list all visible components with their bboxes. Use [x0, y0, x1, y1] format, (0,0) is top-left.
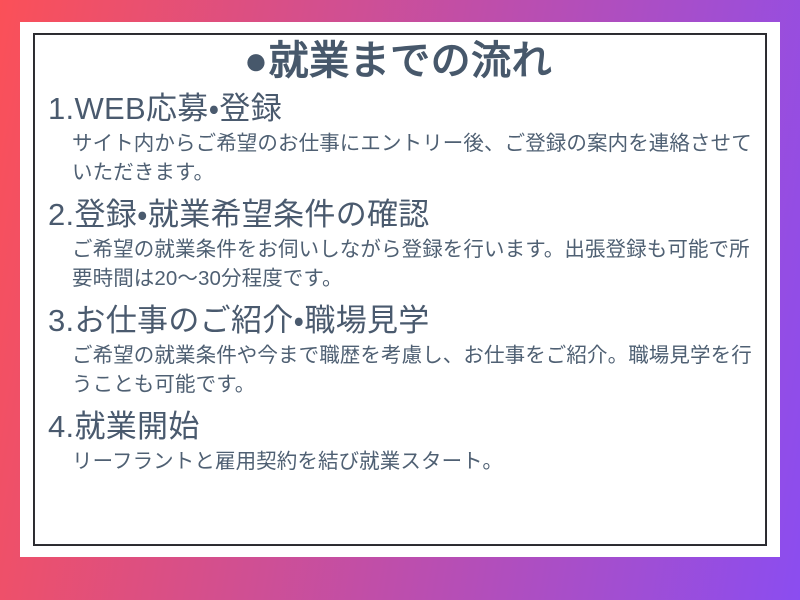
step-2-body: ご希望の就業条件をお伺いしながら登録を行います。出張登録も可能で所要時間は20〜… — [72, 235, 762, 293]
step-1-heading: 1.WEB応募・登録 — [48, 90, 766, 128]
step-4-body: リーフラントと雇用契約を結び就業スタート。 — [72, 447, 762, 476]
step-4-heading: 4.就業開始 — [48, 408, 766, 446]
poster-gradient-background: ●就業までの流れ 1.WEB応募・登録 サイト内からご希望のお仕事にエントリー後… — [0, 0, 800, 600]
step-item: 1.WEB応募・登録 サイト内からご希望のお仕事にエントリー後、ご登録の案内を連… — [48, 90, 766, 187]
step-1-body: サイト内からご希望のお仕事にエントリー後、ご登録の案内を連絡させていただきます。 — [72, 129, 762, 187]
step-item: 4.就業開始 リーフラントと雇用契約を結び就業スタート。 — [48, 408, 766, 476]
step-2-heading: 2.登録・就業希望条件の確認 — [48, 196, 766, 234]
white-card: ●就業までの流れ 1.WEB応募・登録 サイト内からご希望のお仕事にエントリー後… — [20, 22, 780, 557]
page-title: ●就業までの流れ — [48, 36, 766, 86]
step-item: 2.登録・就業希望条件の確認 ご希望の就業条件をお伺いしながら登録を行います。出… — [48, 196, 766, 293]
content-area: ●就業までの流れ 1.WEB応募・登録 サイト内からご希望のお仕事にエントリー後… — [48, 36, 766, 549]
step-3-heading: 3.お仕事のご紹介・職場見学 — [48, 302, 766, 340]
step-3-body: ご希望の就業条件や今まで職歴を考慮し、お仕事をご紹介。職場見学を行うことも可能で… — [72, 341, 762, 399]
step-item: 3.お仕事のご紹介・職場見学 ご希望の就業条件や今まで職歴を考慮し、お仕事をご紹… — [48, 302, 766, 399]
